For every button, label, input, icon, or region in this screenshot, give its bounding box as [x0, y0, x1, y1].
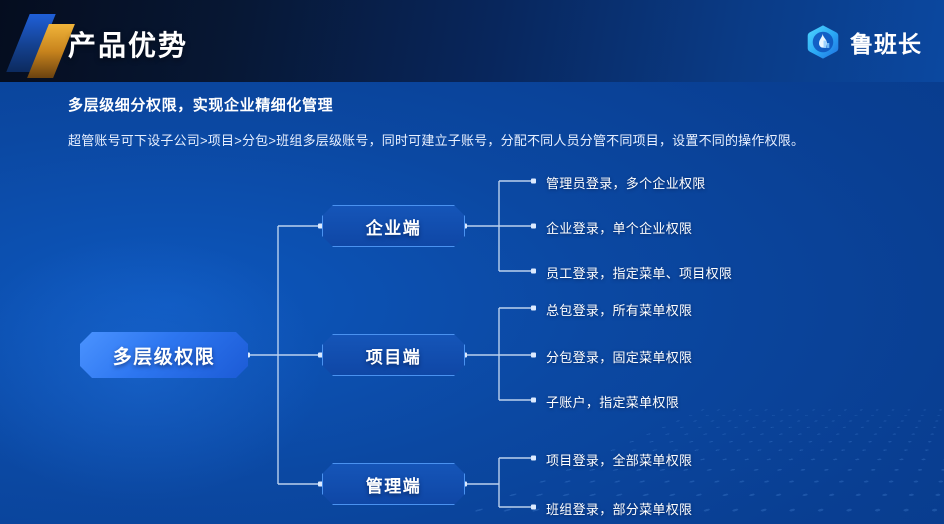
diagram-leaf-item: 分包登录，固定菜单权限 — [546, 347, 692, 366]
diagram-leaf-item: 子账户，指定菜单权限 — [546, 392, 679, 411]
diagram-branch-node-project[interactable]: 项目端 — [322, 334, 465, 376]
diagram-leaf-item: 班组登录，部分菜单权限 — [546, 499, 692, 518]
page-title: 产品优势 — [68, 24, 188, 64]
diagram-leaf-item: 员工登录，指定菜单、项目权限 — [546, 263, 732, 282]
double-slash-mark-icon — [14, 14, 72, 72]
diagram-leaf-item: 项目登录，全部菜单权限 — [546, 450, 692, 469]
slide-canvas: 产品优势 鲁班长 多层级细分权限，实现企业精细化管理 超管账号可下设 — [0, 0, 944, 524]
diagram-branch-node-management[interactable]: 管理端 — [322, 463, 465, 505]
diagram-branch-node-enterprise[interactable]: 企业端 — [322, 205, 465, 247]
permission-hierarchy-diagram: 多层级权限 企业端 项目端 管理端 管理员登录，多个企业权限 企业登录，单个企业… — [0, 150, 944, 524]
brand-logo: 鲁班长 — [805, 24, 922, 60]
section-subtitle: 多层级细分权限，实现企业精细化管理 — [68, 94, 333, 115]
diagram-leaf-item: 管理员登录，多个企业权限 — [546, 173, 706, 192]
hexagon-building-logo-icon — [805, 24, 841, 60]
section-description: 超管账号可下设子公司>项目>分包>班组多层级账号，同时可建立子账号，分配不同人员… — [68, 130, 804, 149]
brand-logo-text: 鲁班长 — [850, 25, 922, 59]
diagram-leaf-item: 企业登录，单个企业权限 — [546, 218, 692, 237]
diagram-leaf-item: 总包登录，所有菜单权限 — [546, 300, 692, 319]
diagram-root-node[interactable]: 多层级权限 — [80, 332, 248, 378]
slide-header: 产品优势 鲁班长 — [0, 0, 944, 82]
